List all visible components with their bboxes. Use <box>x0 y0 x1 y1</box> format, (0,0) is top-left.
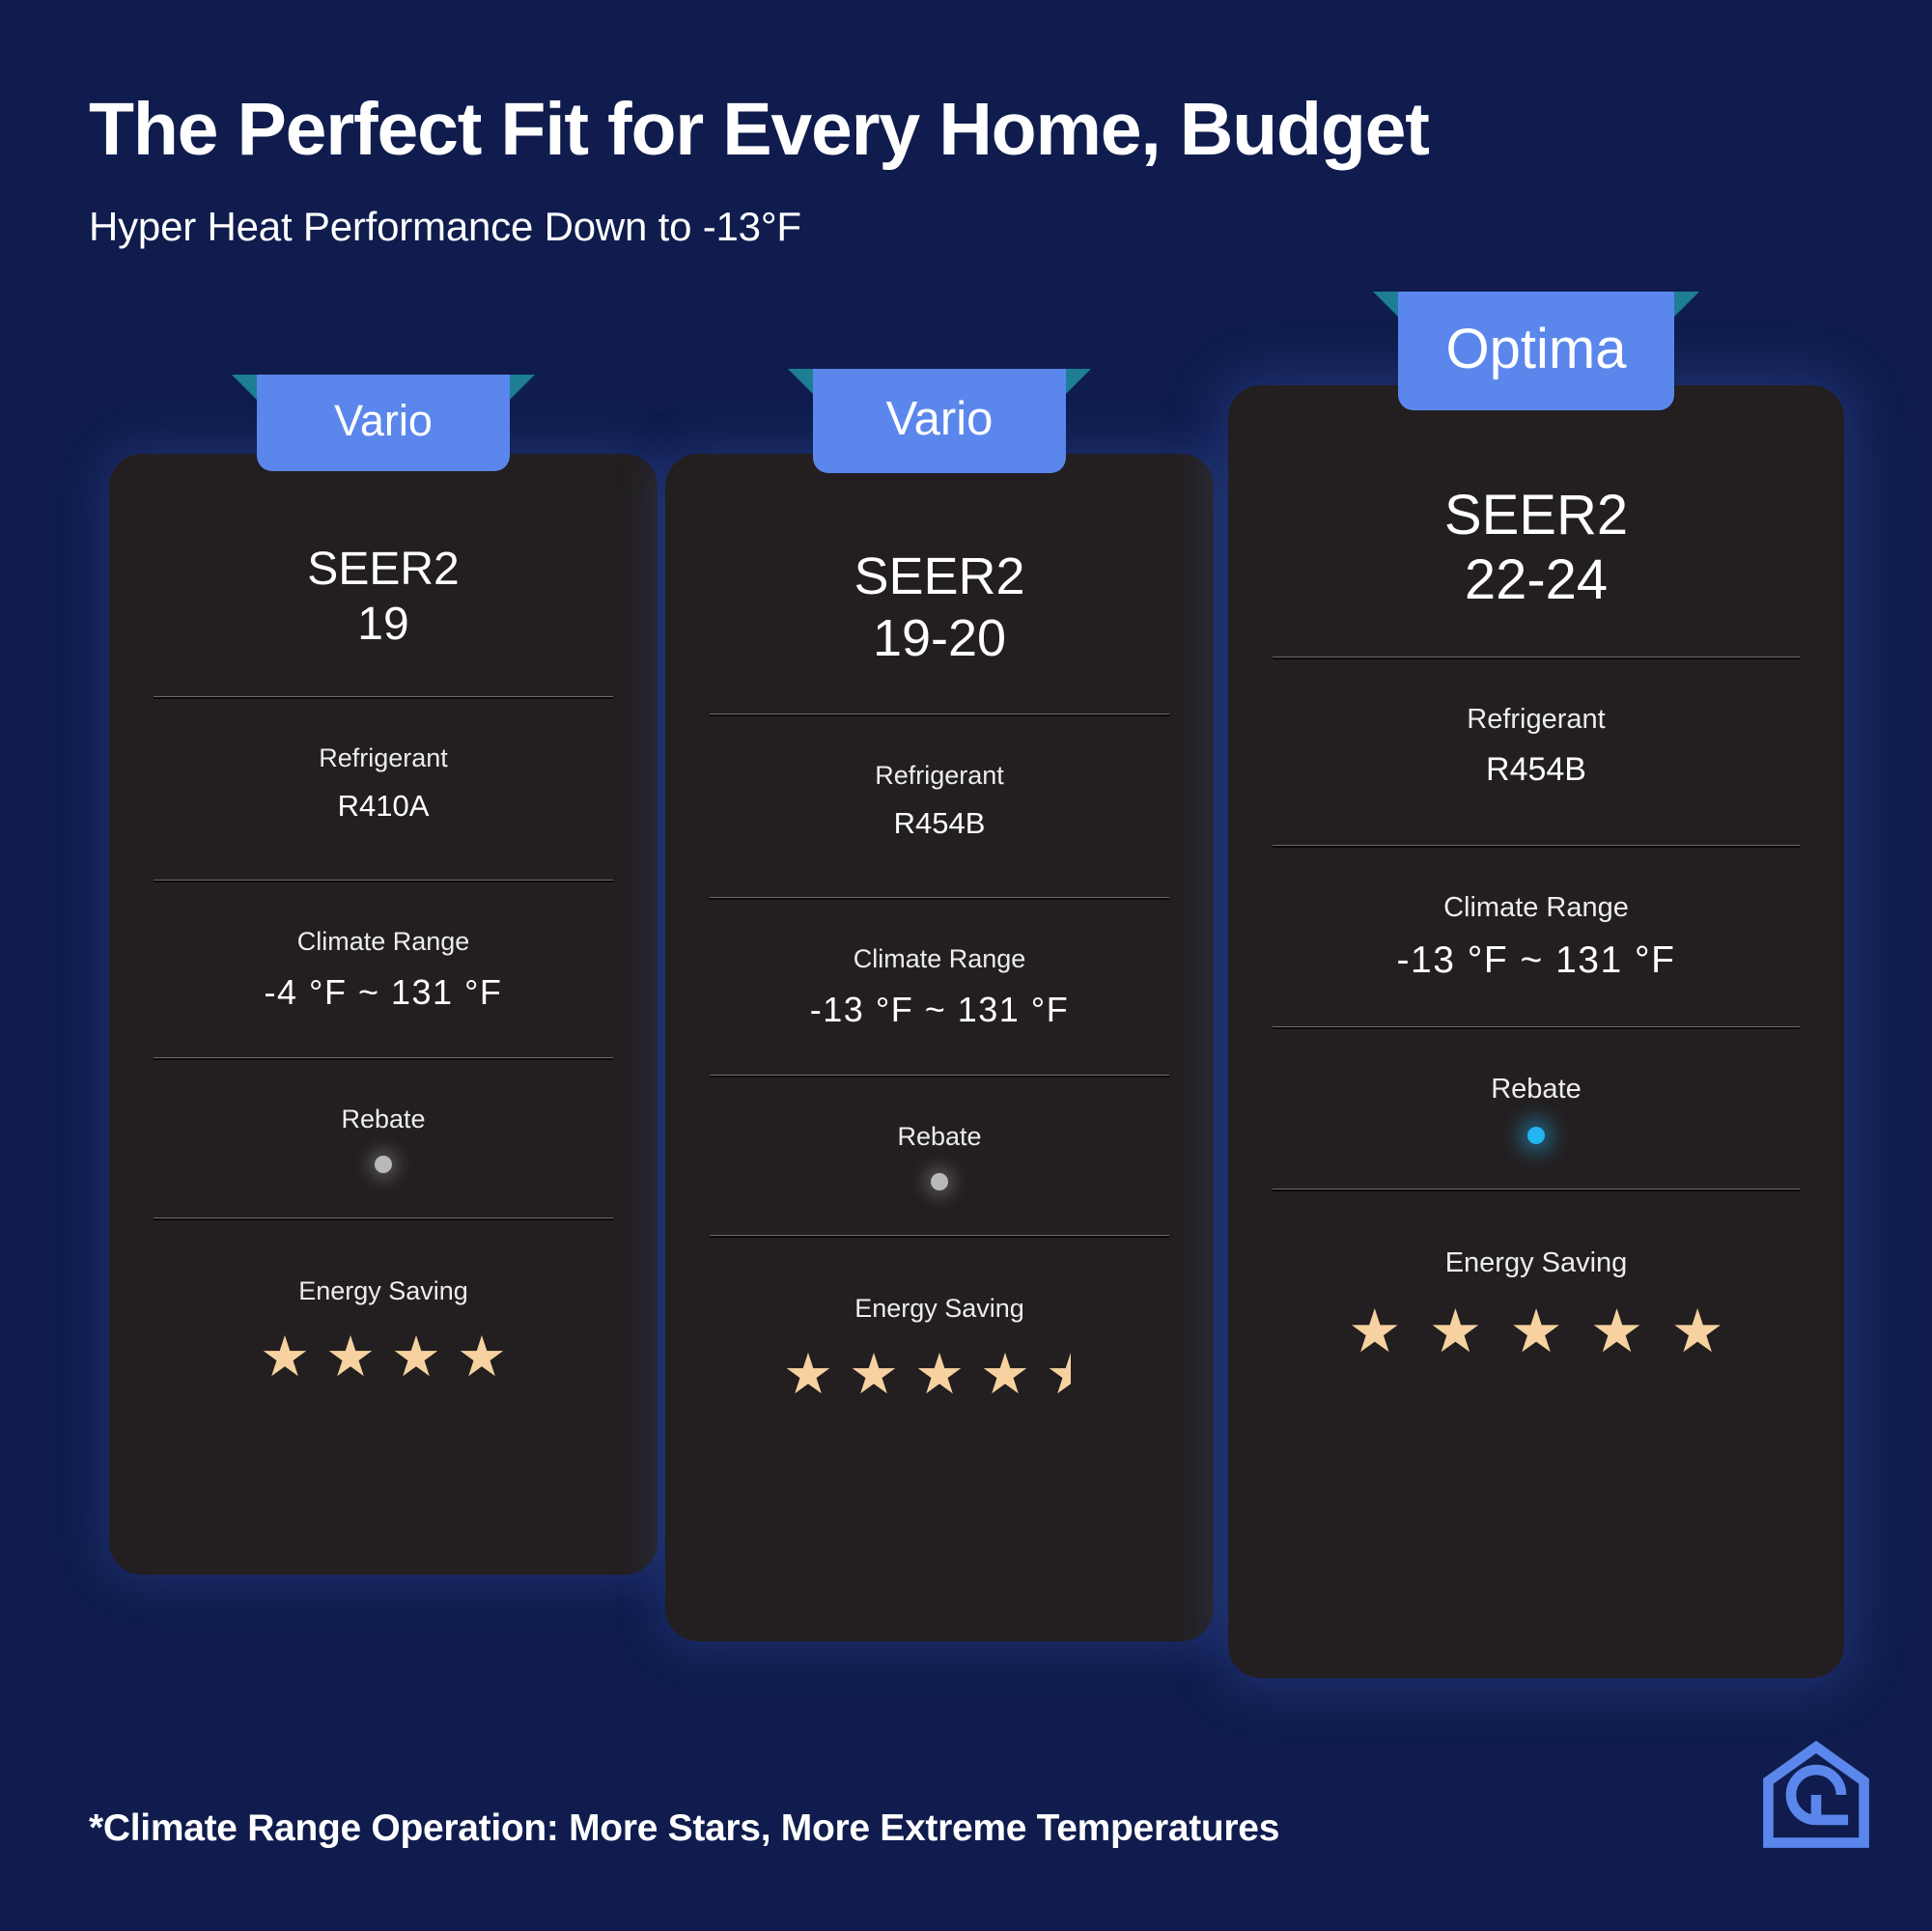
product-badge: Vario <box>813 369 1066 473</box>
star-icon: ★ <box>1670 1302 1724 1362</box>
climate-range-value: -13 °F ~ 131 °F <box>1273 939 1800 982</box>
spec-climate-range: Climate Range -13 °F ~ 131 °F <box>1273 892 1800 982</box>
divider <box>710 897 1169 900</box>
spec-rebate: Rebate <box>154 1105 613 1173</box>
spec-refrigerant: Refrigerant R454B <box>710 761 1169 841</box>
star-icon: ★ <box>849 1347 899 1403</box>
rebate-label: Rebate <box>154 1105 613 1134</box>
house-spiral-logo-icon <box>1759 1738 1873 1852</box>
seer-value: 22-24 <box>1444 548 1628 613</box>
card-body: SEER2 19-20 Refrigerant R454B Climate Ra… <box>665 454 1214 1641</box>
refrigerant-value: R410A <box>154 789 613 824</box>
divider <box>154 880 613 882</box>
seer-block: SEER2 19-20 <box>854 546 1024 669</box>
star-icon: ★ <box>980 1347 1030 1403</box>
star-icon: ★ <box>260 1329 310 1385</box>
rebate-indicator-dot <box>375 1156 392 1173</box>
product-badge-label: Optima <box>1398 292 1674 410</box>
divider <box>154 1217 613 1220</box>
ribbon-tail-left-icon <box>1373 292 1398 317</box>
spec-energy-saving: Energy Saving ★★★★★ <box>710 1294 1169 1403</box>
star-icon: ★ <box>1590 1302 1644 1362</box>
energy-saving-star-rating: ★★★★★ <box>710 1347 1169 1403</box>
star-icon: ★ <box>1348 1302 1402 1362</box>
seer-label: SEER2 <box>854 546 1024 608</box>
star-icon: ★ <box>1509 1302 1563 1362</box>
product-badge: Optima <box>1398 292 1674 410</box>
divider <box>1273 845 1800 848</box>
spec-refrigerant: Refrigerant R410A <box>154 743 613 824</box>
rebate-indicator-dot <box>931 1173 948 1190</box>
divider <box>710 714 1169 716</box>
energy-saving-star-rating: ★★★★★ <box>1273 1302 1800 1362</box>
rebate-indicator-dot <box>1527 1127 1545 1144</box>
refrigerant-label: Refrigerant <box>154 743 613 773</box>
product-badge-label: Vario <box>813 369 1066 473</box>
divider <box>1273 1026 1800 1029</box>
star-icon: ★ <box>914 1347 965 1403</box>
climate-range-label: Climate Range <box>710 944 1169 974</box>
seer-label: SEER2 <box>307 543 459 598</box>
divider <box>710 1235 1169 1238</box>
card-body: SEER2 19 Refrigerant R410A Climate Range… <box>109 454 658 1575</box>
refrigerant-value: R454B <box>1273 751 1800 789</box>
star-icon: ★ <box>391 1329 441 1385</box>
product-card-vario-19[interactable]: Vario SEER2 19 Refrigerant R410A Climate… <box>109 454 658 1575</box>
footnote: *Climate Range Operation: More Stars, Mo… <box>89 1807 1279 1850</box>
spec-energy-saving: Energy Saving ★★★★★ <box>1273 1247 1800 1362</box>
seer-label: SEER2 <box>1444 484 1628 548</box>
ribbon-tail-left-icon <box>788 369 813 394</box>
refrigerant-value: R454B <box>710 806 1169 841</box>
seer-value: 19 <box>307 598 459 653</box>
refrigerant-label: Refrigerant <box>710 761 1169 791</box>
star-icon: ★ <box>783 1347 833 1403</box>
energy-saving-label: Energy Saving <box>1273 1247 1800 1279</box>
ribbon-tail-right-icon <box>1674 292 1699 317</box>
divider <box>1273 657 1800 659</box>
divider <box>1273 1189 1800 1191</box>
refrigerant-label: Refrigerant <box>1273 704 1800 736</box>
ribbon-tail-right-icon <box>1066 369 1091 394</box>
ribbon-tail-right-icon <box>510 375 535 400</box>
star-icon: ★ <box>325 1329 376 1385</box>
spec-energy-saving: Energy Saving ★★★★ <box>154 1276 613 1385</box>
divider <box>710 1075 1169 1077</box>
spec-rebate: Rebate <box>710 1122 1169 1190</box>
seer-value: 19-20 <box>854 608 1024 670</box>
divider <box>154 696 613 699</box>
climate-range-label: Climate Range <box>154 927 613 957</box>
comparison-card-deck: Vario SEER2 19 Refrigerant R410A Climate… <box>0 0 1932 1931</box>
card-body: SEER2 22-24 Refrigerant R454B Climate Ra… <box>1228 385 1844 1678</box>
rebate-label: Rebate <box>710 1122 1169 1152</box>
star-icon: ★ <box>457 1329 507 1385</box>
star-icon: ★ <box>1429 1302 1483 1362</box>
seer-block: SEER2 22-24 <box>1444 484 1628 612</box>
half-star-icon: ★ <box>1046 1347 1096 1403</box>
product-badge-label: Vario <box>257 375 510 471</box>
spec-rebate: Rebate <box>1273 1074 1800 1144</box>
energy-saving-star-rating: ★★★★ <box>154 1329 613 1385</box>
product-badge: Vario <box>257 375 510 471</box>
climate-range-value: -4 °F ~ 131 °F <box>154 972 613 1013</box>
rebate-label: Rebate <box>1273 1074 1800 1105</box>
divider <box>154 1057 613 1060</box>
spec-climate-range: Climate Range -13 °F ~ 131 °F <box>710 944 1169 1030</box>
ribbon-tail-left-icon <box>232 375 257 400</box>
spec-refrigerant: Refrigerant R454B <box>1273 704 1800 789</box>
product-card-optima[interactable]: Optima SEER2 22-24 Refrigerant R454B Cli… <box>1228 385 1844 1678</box>
energy-saving-label: Energy Saving <box>154 1276 613 1306</box>
product-card-vario-19-20[interactable]: Vario SEER2 19-20 Refrigerant R454B Clim… <box>665 454 1214 1641</box>
climate-range-value: -13 °F ~ 131 °F <box>710 990 1169 1030</box>
climate-range-label: Climate Range <box>1273 892 1800 924</box>
spec-climate-range: Climate Range -4 °F ~ 131 °F <box>154 927 613 1013</box>
energy-saving-label: Energy Saving <box>710 1294 1169 1324</box>
seer-block: SEER2 19 <box>307 543 459 652</box>
